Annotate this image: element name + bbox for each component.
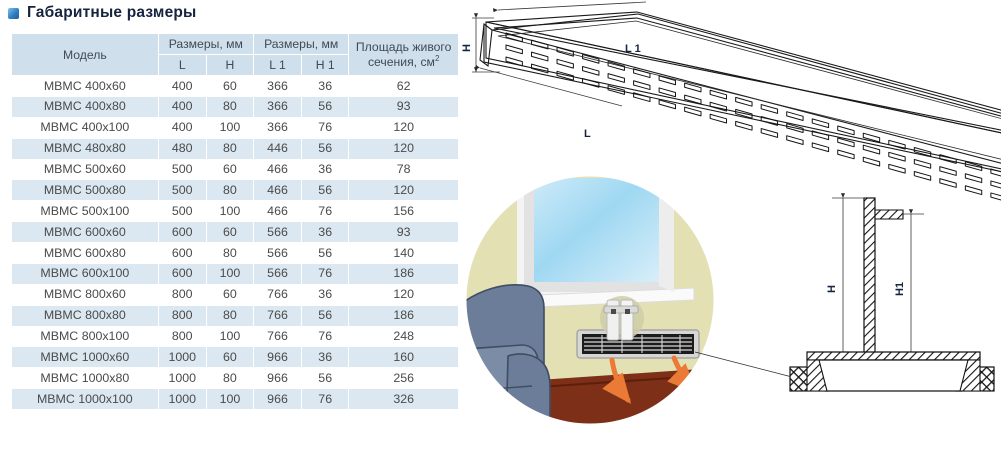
grille-slot (532, 64, 548, 73)
cell-l: 400 (158, 96, 206, 117)
table-row: МВМС 600x10060010056676186 (12, 263, 459, 284)
wall-grille (577, 330, 699, 358)
cell-l: 500 (158, 159, 206, 180)
table-row: МВМС 500x60500604663678 (12, 159, 459, 180)
table-row: МВМС 500x805008046656120 (12, 180, 459, 201)
cell-h1: 76 (302, 263, 349, 284)
cell-h: 60 (206, 159, 253, 180)
label-h-section: H (826, 285, 838, 293)
cell-model: МВМС 500x60 (12, 159, 159, 180)
cell-model: МВМС 800x60 (12, 284, 159, 305)
th-col-h1: H 1 (302, 55, 349, 76)
cell-h: 100 (206, 389, 253, 410)
th-col-l1: L 1 (253, 55, 301, 76)
cell-area: 120 (349, 117, 459, 138)
cell-l: 800 (158, 284, 206, 305)
cell-h: 60 (206, 347, 253, 368)
cell-model: МВМС 500x100 (12, 201, 159, 222)
table-row: МВМС 800x10080010076676248 (12, 326, 459, 347)
cell-l1: 566 (253, 243, 301, 264)
cell-area: 62 (349, 76, 459, 97)
grille-slot (914, 159, 930, 168)
label-l: L (584, 128, 591, 140)
table-row: МВМС 800x608006076636120 (12, 284, 459, 305)
cell-area: 93 (349, 222, 459, 243)
cell-l: 1000 (158, 347, 206, 368)
cell-h1: 56 (302, 96, 349, 117)
cell-h1: 76 (302, 389, 349, 410)
grille-slot (532, 52, 548, 61)
cell-l: 400 (158, 76, 206, 97)
cell-area: 186 (349, 305, 459, 326)
grille-slot (583, 66, 599, 75)
cell-h: 60 (206, 284, 253, 305)
cell-l1: 446 (253, 138, 301, 159)
cell-h1: 76 (302, 117, 349, 138)
cell-l1: 366 (253, 117, 301, 138)
label-l1: L 1 (625, 43, 641, 55)
grille-slot (761, 129, 777, 138)
table-row: МВМС 1000x8010008096656256 (12, 368, 459, 389)
cell-area: 120 (349, 284, 459, 305)
horizontal-mount-section (790, 352, 994, 391)
cell-l1: 366 (253, 76, 301, 97)
cell-area: 120 (349, 138, 459, 159)
cell-l: 600 (158, 243, 206, 264)
cell-l: 400 (158, 117, 206, 138)
cell-area: 256 (349, 368, 459, 389)
grille-slot (914, 171, 930, 180)
label-h1-section: H1 (894, 282, 906, 296)
cell-model: МВМС 1000x60 (12, 347, 159, 368)
cell-l1: 966 (253, 389, 301, 410)
cell-l: 500 (158, 201, 206, 222)
cell-l1: 766 (253, 326, 301, 347)
table-header-row-1: Модель Размеры, мм Размеры, мм Площадь ж… (12, 34, 459, 55)
cell-l1: 466 (253, 159, 301, 180)
grille-slot (608, 74, 624, 83)
cell-h: 60 (206, 76, 253, 97)
cell-h1: 76 (302, 201, 349, 222)
grille-slot (812, 143, 828, 152)
cell-area: 140 (349, 243, 459, 264)
cell-model: МВМС 600x60 (12, 222, 159, 243)
window (514, 178, 694, 308)
sofa (462, 285, 550, 432)
grille-slot (761, 105, 777, 114)
illustration-area: H L 1 L (462, 0, 1001, 464)
cell-h: 80 (206, 180, 253, 201)
cell-model: МВМС 800x80 (12, 305, 159, 326)
dimensions-table: Модель Размеры, мм Размеры, мм Площадь ж… (11, 33, 459, 410)
cell-model: МВМС 480x80 (12, 138, 159, 159)
cell-area: 156 (349, 201, 459, 222)
th-model: Модель (12, 34, 159, 76)
grille-slot (991, 181, 1001, 190)
table-body: МВМС 400x60400603663662МВМС 400x80400803… (12, 76, 459, 410)
grille-slot (889, 152, 905, 161)
cell-l1: 466 (253, 201, 301, 222)
cell-area: 160 (349, 347, 459, 368)
grille-slot (965, 174, 981, 183)
th-col-l: L (158, 55, 206, 76)
cell-h1: 36 (302, 76, 349, 97)
cell-h: 80 (206, 138, 253, 159)
th-group-inner: Размеры, мм (253, 34, 348, 55)
table-row: МВМС 400x10040010036676120 (12, 117, 459, 138)
cell-area: 186 (349, 263, 459, 284)
grille-slot (557, 59, 573, 68)
cell-model: МВМС 1000x100 (12, 389, 159, 410)
cell-l1: 566 (253, 263, 301, 284)
th-area-superscript: 2 (435, 54, 439, 63)
cell-l1: 966 (253, 347, 301, 368)
cell-model: МВМС 400x60 (12, 76, 159, 97)
table-row: МВМС 600x60600605663693 (12, 222, 459, 243)
cell-h: 100 (206, 263, 253, 284)
th-group-outer: Размеры, мм (158, 34, 253, 55)
cell-h1: 36 (302, 284, 349, 305)
grille-slot (685, 107, 701, 116)
grille-slot (838, 126, 854, 135)
cell-h: 60 (206, 222, 253, 243)
cell-h1: 36 (302, 222, 349, 243)
cell-l1: 966 (253, 368, 301, 389)
grille-slot (506, 45, 522, 54)
table-row: МВМС 400x60400603663662 (12, 76, 459, 97)
grille-slot (863, 157, 879, 166)
cell-l: 1000 (158, 389, 206, 410)
grille-slot (787, 112, 803, 121)
cell-h1: 76 (302, 326, 349, 347)
cell-model: МВМС 400x100 (12, 117, 159, 138)
cell-h1: 36 (302, 347, 349, 368)
cell-area: 78 (349, 159, 459, 180)
cell-h: 80 (206, 243, 253, 264)
grille-slot (838, 138, 854, 147)
table-row: МВМС 400x80400803665693 (12, 96, 459, 117)
cell-model: МВМС 500x80 (12, 180, 159, 201)
table-row: МВМС 480x804808044656120 (12, 138, 459, 159)
grille-slot (787, 136, 803, 145)
photo-leader-line (695, 352, 796, 378)
grille-slot (940, 167, 956, 176)
cell-area: 326 (349, 389, 459, 410)
cell-h: 100 (206, 201, 253, 222)
grille-slot (736, 121, 752, 130)
table-row: МВМС 500x10050010046676156 (12, 201, 459, 222)
cell-area: 248 (349, 326, 459, 347)
cell-area: 93 (349, 96, 459, 117)
page-title-row: Габаритные размеры (8, 4, 197, 22)
cell-model: МВМС 1000x80 (12, 368, 159, 389)
cell-model: МВМС 600x100 (12, 263, 159, 284)
cell-l: 480 (158, 138, 206, 159)
table-row: МВМС 1000x6010006096636160 (12, 347, 459, 368)
bullet-icon (8, 8, 19, 19)
grille-slot (863, 145, 879, 154)
cell-l1: 366 (253, 96, 301, 117)
label-h-isometric: H (462, 44, 473, 52)
cell-h1: 56 (302, 180, 349, 201)
th-area-line2: сечения, см (368, 55, 435, 69)
page-title: Габаритные размеры (27, 4, 197, 22)
cell-model: МВМС 400x80 (12, 96, 159, 117)
cell-l: 600 (158, 263, 206, 284)
cell-l: 800 (158, 326, 206, 347)
grille-slot (838, 150, 854, 159)
cell-area: 120 (349, 180, 459, 201)
grille-slot (991, 193, 1001, 202)
grille-slot (889, 164, 905, 173)
grille-slot (736, 97, 752, 106)
cell-l1: 766 (253, 305, 301, 326)
cell-model: МВМС 600x80 (12, 243, 159, 264)
cell-h1: 56 (302, 243, 349, 264)
th-col-h: H (206, 55, 253, 76)
cell-l: 800 (158, 305, 206, 326)
cell-l: 600 (158, 222, 206, 243)
cell-h: 100 (206, 117, 253, 138)
grille-slot (634, 81, 650, 90)
cell-h1: 56 (302, 138, 349, 159)
table-row: МВМС 600x806008056656140 (12, 243, 459, 264)
cell-h: 80 (206, 305, 253, 326)
grille-slot (940, 179, 956, 188)
grille-slot (965, 186, 981, 195)
cell-h: 80 (206, 368, 253, 389)
cell-l1: 466 (253, 180, 301, 201)
cell-h1: 56 (302, 305, 349, 326)
valve-assembly (600, 296, 644, 340)
cell-h: 100 (206, 326, 253, 347)
cell-h1: 36 (302, 159, 349, 180)
cell-l: 500 (158, 180, 206, 201)
th-area: Площадь живого сечения, см2 (349, 34, 459, 76)
cell-l1: 766 (253, 284, 301, 305)
grille-slot (812, 119, 828, 128)
cell-l1: 566 (253, 222, 301, 243)
dimension-l1 (498, 2, 646, 10)
cell-l: 1000 (158, 368, 206, 389)
table-head: Модель Размеры, мм Размеры, мм Площадь ж… (12, 34, 459, 76)
cell-h1: 56 (302, 368, 349, 389)
grille-slot (710, 114, 726, 123)
table-row: МВМС 1000x100100010096676326 (12, 389, 459, 410)
th-area-line1: Площадь живого (356, 40, 451, 54)
cell-model: МВМС 800x100 (12, 326, 159, 347)
cell-h: 80 (206, 96, 253, 117)
table-row: МВМС 800x808008076656186 (12, 305, 459, 326)
